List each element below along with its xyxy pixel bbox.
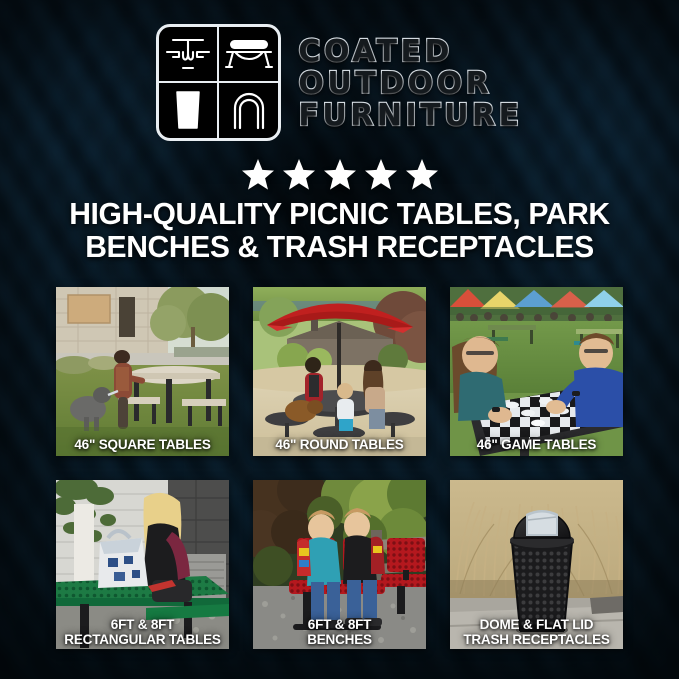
headline: HIGH-QUALITY PICNIC TABLES, PARK BENCHES…	[35, 197, 643, 263]
product-caption: 46" ROUND TABLES	[253, 437, 426, 452]
logo-line-outdoor: OUTDOOR	[298, 68, 522, 99]
logo-wordmark: COATED OUTDOOR FURNITURE	[298, 34, 522, 131]
logo-line-furniture: FURNITURE	[298, 100, 522, 131]
product-caption: 46" SQUARE TABLES	[56, 437, 229, 452]
star-rating	[0, 158, 679, 191]
star-icon	[364, 158, 398, 191]
product-caption-line-2: RECTANGULAR TABLES	[64, 632, 220, 647]
logo-icon-grid	[156, 24, 281, 141]
product-caption-line-2: BENCHES	[307, 632, 372, 647]
product-caption-line-1: 6FT & 8FT	[308, 617, 371, 632]
product-photo-round-tables	[253, 287, 426, 456]
product-tile-square-tables[interactable]: 46" SQUARE TABLES	[56, 287, 229, 456]
product-photo-square-tables	[56, 287, 229, 456]
product-tile-game-tables[interactable]: 46" GAME TABLES	[450, 287, 623, 456]
product-caption: 46" GAME TABLES	[450, 437, 623, 452]
product-caption: 6FT & 8FT RECTANGULAR TABLES	[56, 617, 229, 647]
product-tile-rectangular-tables[interactable]: 6FT & 8FT RECTANGULAR TABLES	[56, 480, 229, 649]
headline-line-1: HIGH-QUALITY PICNIC TABLES, PARK	[69, 196, 610, 231]
star-icon	[323, 158, 357, 191]
product-tile-trash-receptacles[interactable]: DOME & FLAT LID TRASH RECEPTACLES	[450, 480, 623, 649]
product-caption-line-1: 6FT & 8FT	[111, 617, 174, 632]
advertisement-banner: COATED OUTDOOR FURNITURE HIGH-QUALITY PI…	[0, 0, 679, 679]
product-caption: DOME & FLAT LID TRASH RECEPTACLES	[450, 617, 623, 647]
star-icon	[282, 158, 316, 191]
product-tile-benches[interactable]: 6FT & 8FT BENCHES	[253, 480, 426, 649]
product-caption: 6FT & 8FT BENCHES	[253, 617, 426, 647]
product-caption-line-2: TRASH RECEPTACLES	[463, 632, 609, 647]
product-tile-round-tables[interactable]: 46" ROUND TABLES	[253, 287, 426, 456]
brand-logo: COATED OUTDOOR FURNITURE	[0, 24, 679, 141]
logo-line-coated: COATED	[298, 36, 522, 67]
bike-rack-arch-icon	[219, 83, 279, 139]
product-grid: 46" SQUARE TABLES	[56, 287, 623, 649]
product-caption-line-1: DOME & FLAT LID	[480, 617, 594, 632]
star-icon	[405, 158, 439, 191]
bench-icon	[219, 27, 279, 83]
headline-line-2: BENCHES & TRASH RECEPTACLES	[35, 230, 643, 263]
picnic-table-icon	[159, 27, 219, 83]
product-photo-game-tables	[450, 287, 623, 456]
trash-receptacle-icon	[159, 83, 219, 139]
star-icon	[241, 158, 275, 191]
